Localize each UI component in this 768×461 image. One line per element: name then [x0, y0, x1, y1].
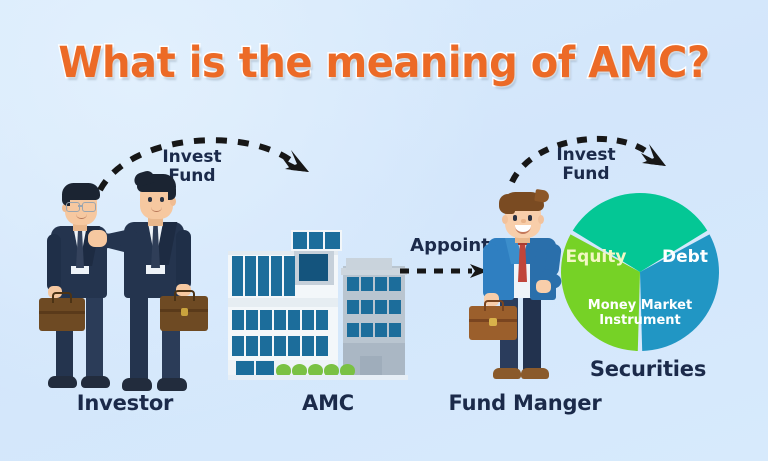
infographic-canvas: What is the meaning of AMC? Invest Fund — [0, 0, 768, 461]
investor-figure-right — [110, 172, 220, 397]
invest-fund-label-2: Invest Fund — [536, 146, 636, 184]
pie-label-debt: Debt — [650, 248, 720, 267]
fund-manager-label: Fund Manger — [430, 392, 620, 416]
pie-label-equity: Equity — [558, 248, 634, 267]
glasses-icon — [66, 202, 80, 212]
pie-svg — [552, 186, 732, 366]
page-title: What is the meaning of AMC? — [27, 38, 741, 88]
securities-pie-chart: Equity Debt Money Market Instrument — [552, 186, 732, 366]
investor-label: Investor — [40, 392, 210, 416]
securities-label: Securities — [558, 358, 738, 382]
amc-label: AMC — [243, 392, 413, 416]
pie-label-money-market: Money Market Instrument — [574, 298, 706, 329]
